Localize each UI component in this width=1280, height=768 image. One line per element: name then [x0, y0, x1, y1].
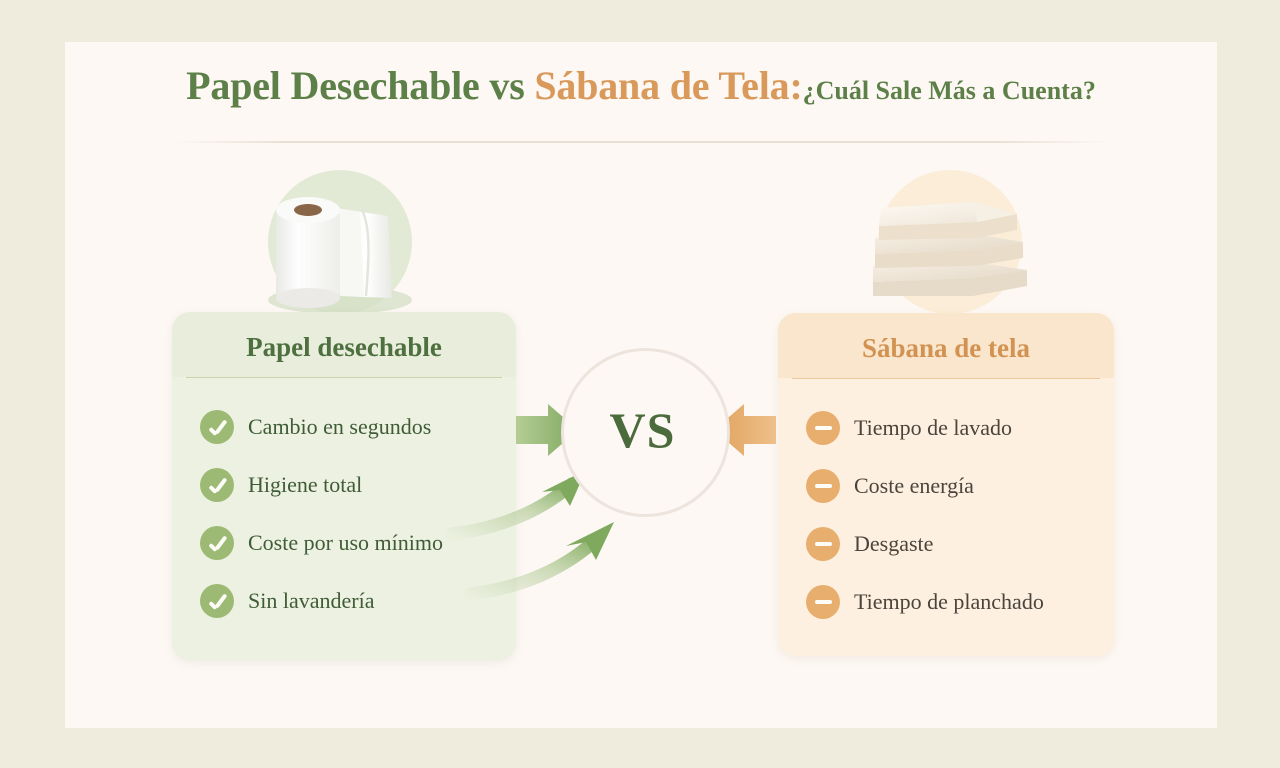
list-item: Higiene total: [200, 456, 516, 514]
card-paper-disposable: Papel desechable Cambio en segundos Higi…: [172, 312, 516, 660]
list-item-label: Desgaste: [854, 531, 933, 557]
folded-sheets-illustration: [845, 170, 1055, 320]
minus-icon: [806, 527, 840, 561]
card-cloth-sheet: Sábana de tela Tiempo de lavado Coste en…: [778, 313, 1114, 656]
check-icon: [200, 526, 234, 560]
check-icon: [200, 410, 234, 444]
minus-icon: [806, 585, 840, 619]
title-part-cloth: Sábana de Tela: [534, 63, 789, 108]
check-icon: [200, 584, 234, 618]
title-part-vs: vs: [489, 63, 534, 108]
list-item: Tiempo de lavado: [806, 399, 1114, 457]
card-left-heading: Papel desechable: [172, 312, 516, 377]
infographic-canvas: Papel Desechable vs Sábana de Tela:¿Cuál…: [0, 0, 1280, 768]
list-item-label: Tiempo de lavado: [854, 415, 1012, 441]
list-item: Cambio en segundos: [200, 398, 516, 456]
list-item: Coste energía: [806, 457, 1114, 515]
check-icon: [200, 468, 234, 502]
list-item: Desgaste: [806, 515, 1114, 573]
list-item-label: Tiempo de planchado: [854, 589, 1044, 615]
list-item-label: Coste por uso mínimo: [248, 530, 443, 556]
list-item-label: Cambio en segundos: [248, 414, 431, 440]
card-right-list: Tiempo de lavado Coste energía Desgaste …: [778, 379, 1114, 653]
minus-icon: [806, 411, 840, 445]
card-right-heading: Sábana de tela: [778, 313, 1114, 378]
toilet-paper-roll-illustration: [240, 170, 440, 320]
vs-label: VS: [561, 348, 724, 511]
title-colon: :: [789, 63, 802, 108]
list-item-label: Sin lavandería: [248, 588, 374, 614]
title-subtitle: ¿Cuál Sale Más a Cuenta?: [803, 76, 1096, 105]
page-title: Papel Desechable vs Sábana de Tela:¿Cuál…: [65, 62, 1217, 109]
list-item: Tiempo de planchado: [806, 573, 1114, 631]
list-item-label: Higiene total: [248, 472, 362, 498]
minus-icon: [806, 469, 840, 503]
list-item: Coste por uso mínimo: [200, 514, 516, 572]
list-item: Sin lavandería: [200, 572, 516, 630]
title-part-paper: Papel Desechable: [186, 63, 489, 108]
title-divider: [172, 141, 1110, 143]
list-item-label: Coste energía: [854, 473, 974, 499]
card-left-list: Cambio en segundos Higiene total Coste p…: [172, 378, 516, 652]
